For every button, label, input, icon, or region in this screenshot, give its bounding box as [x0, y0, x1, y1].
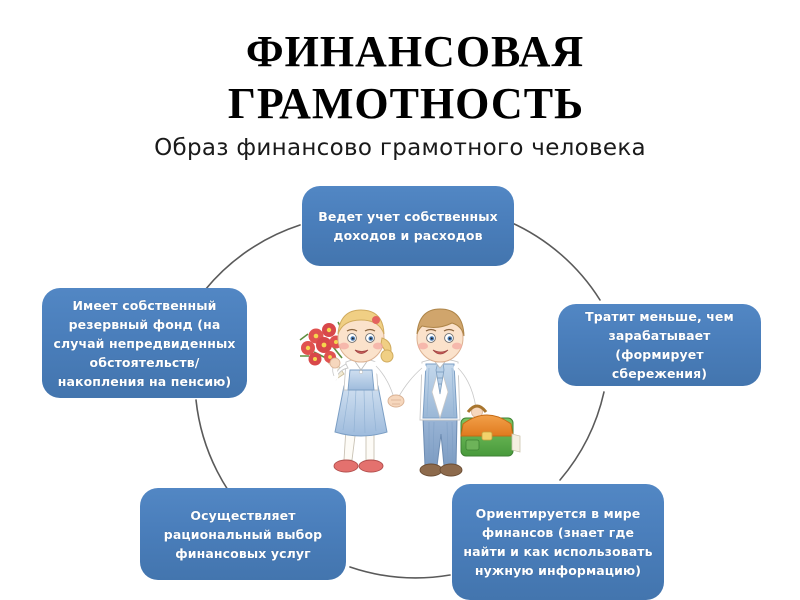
cycle-node-left-label: Имеет собственный резервный фонд (на слу… — [52, 296, 237, 391]
cycle-node-bottom-right[interactable]: Ориентируется в мире финансов (знает где… — [452, 484, 664, 600]
cycle-node-left[interactable]: Имеет собственный резервный фонд (на слу… — [42, 288, 247, 398]
schoolchildren-illustration — [286, 300, 536, 495]
bouquet — [300, 322, 344, 378]
ring-arc-topleft — [205, 225, 300, 290]
cycle-node-right[interactable]: Тратит меньше, чем зарабатывает (формиру… — [558, 304, 761, 386]
girl-figure — [300, 310, 394, 472]
title-block: ФИНАНСОВАЯ ГРАМОТНОСТЬ — [0, 26, 800, 130]
cycle-node-bottom-left-label: Осуществляет рациональный выбор финансов… — [150, 506, 336, 563]
ring-arc-bottom — [350, 567, 450, 578]
page-title-line-1: ФИНАНСОВАЯ — [0, 26, 800, 78]
ring-arc-topright — [510, 222, 600, 300]
cycle-node-right-label: Тратит меньше, чем зарабатывает (формиру… — [568, 307, 751, 383]
page-title-line-2: ГРАМОТНОСТЬ — [0, 78, 800, 130]
school-satchel — [461, 406, 520, 456]
page-subtitle: Образ финансово грамотного человека — [0, 134, 800, 162]
boy-figure — [388, 309, 520, 476]
slide-canvas: ФИНАНСОВАЯ ГРАМОТНОСТЬ Образ финансово г… — [0, 0, 800, 600]
cycle-node-top[interactable]: Ведет учет собственных доходов и расходо… — [302, 186, 514, 266]
cycle-node-bottom-left[interactable]: Осуществляет рациональный выбор финансов… — [140, 488, 346, 580]
ring-arc-right — [560, 392, 604, 480]
cycle-node-top-label: Ведет учет собственных доходов и расходо… — [312, 207, 504, 245]
cycle-node-bottom-right-label: Ориентируется в мире финансов (знает где… — [462, 504, 654, 580]
